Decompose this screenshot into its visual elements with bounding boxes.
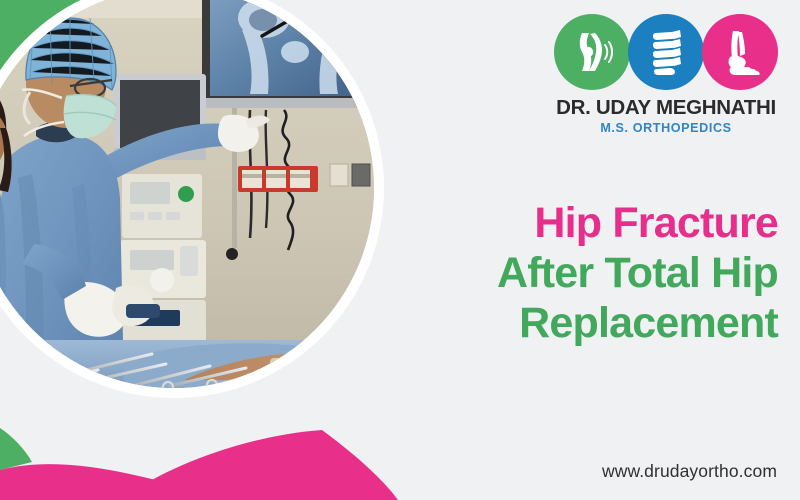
logo-badge-foot [702,14,778,90]
logo-doctor-name: DR. UDAY MEGHNATHI [550,96,782,120]
logo-badges [550,10,782,94]
headline-line-2: After Total Hip [298,248,778,298]
headline-line-1: Hip Fracture [298,198,778,248]
green-sliver-shape [0,428,32,470]
brand-logo[interactable]: DR. UDAY MEGHNATHI M.S. ORTHOPEDICS [550,10,782,135]
promo-banner: DR. UDAY MEGHNATHI M.S. ORTHOPEDICS Hip … [0,0,800,500]
logo-badge-spine [628,14,704,90]
knee-joint-icon [568,28,616,76]
logo-tagline: M.S. ORTHOPEDICS [550,121,782,135]
foot-ankle-bones-icon [717,28,763,76]
spine-vertebrae-icon [644,28,688,76]
headline-line-3: Replacement [298,298,778,348]
website-url[interactable]: www.drudayortho.com [602,461,777,482]
logo-badge-knee [554,14,630,90]
headline: Hip Fracture After Total Hip Replacement [298,198,778,348]
pink-wedge-shape [120,430,398,500]
